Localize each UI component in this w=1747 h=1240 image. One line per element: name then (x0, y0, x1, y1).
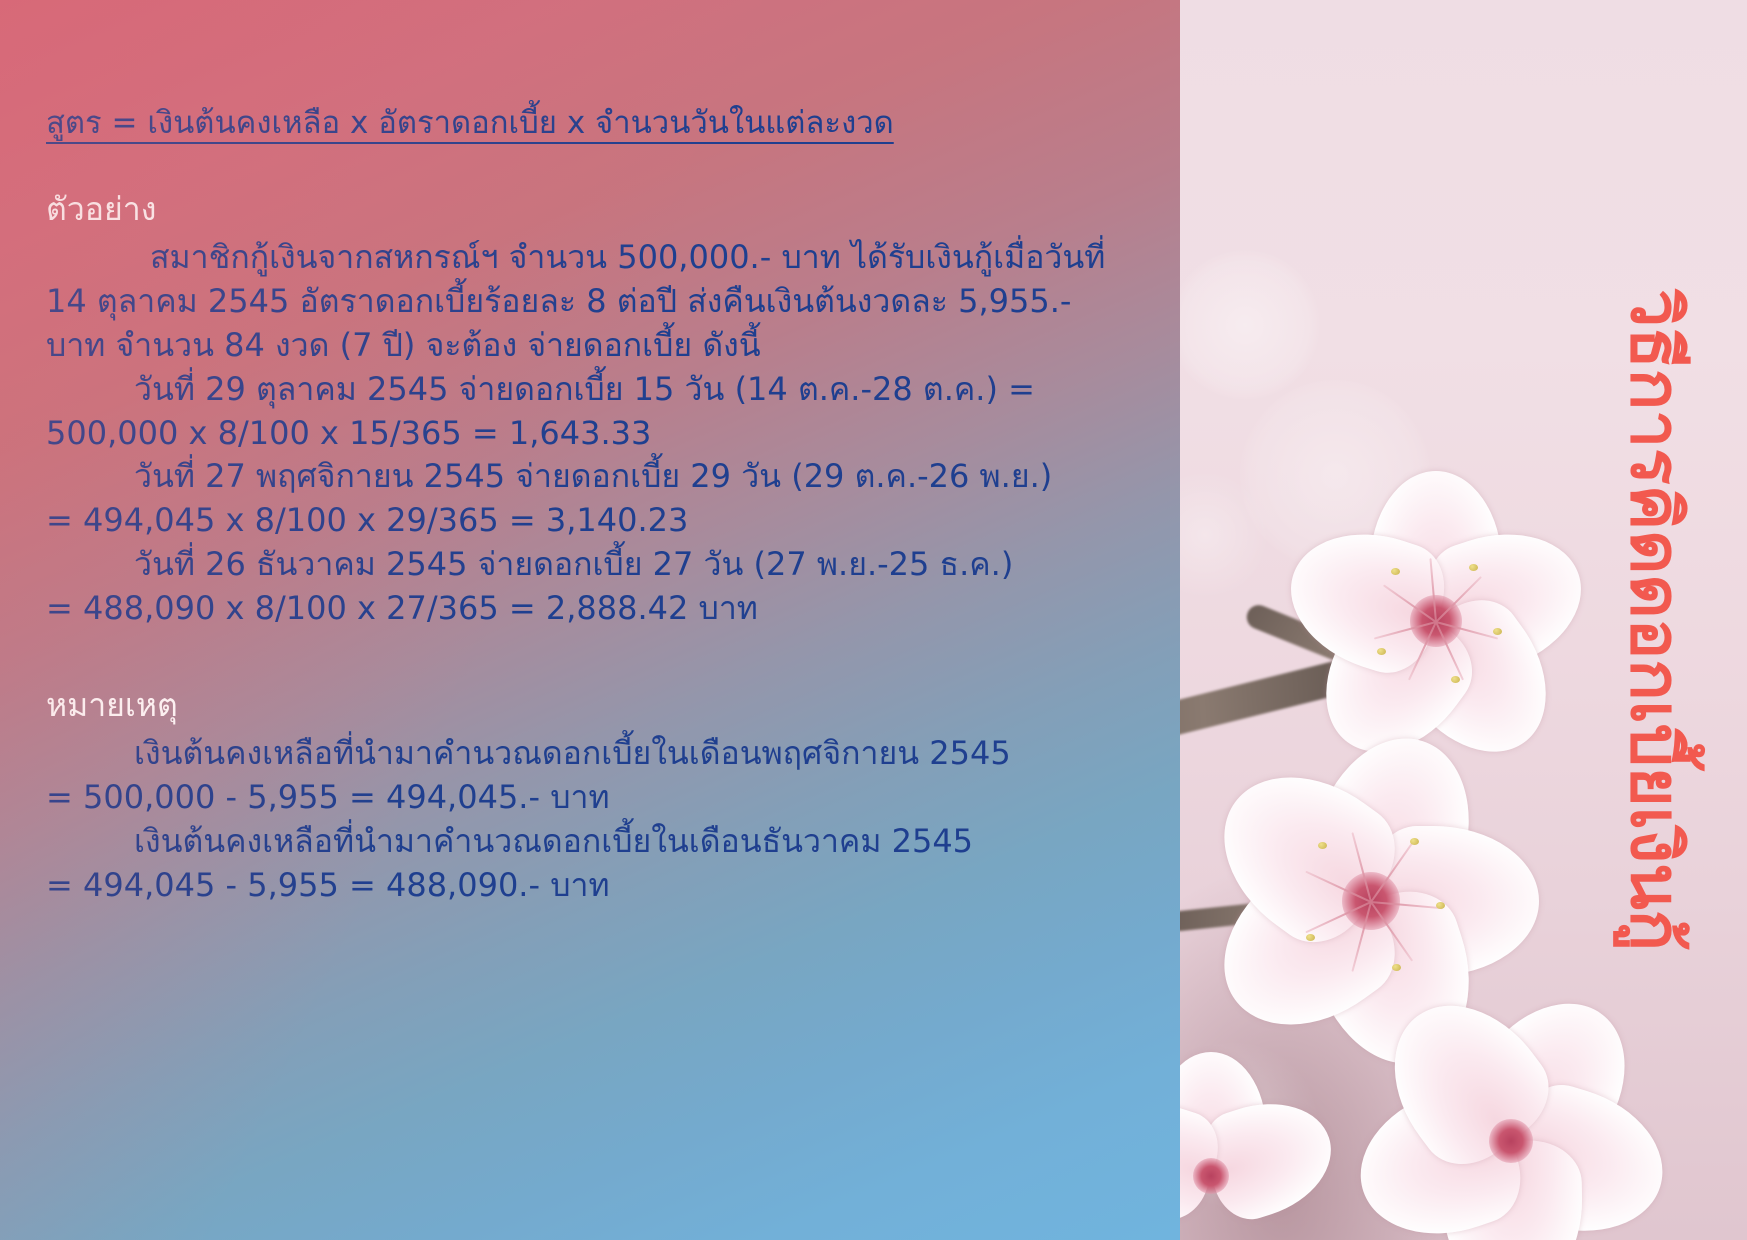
anther (1451, 676, 1460, 683)
example-line-4: วันที่ 29 ตุลาคม 2545 จ่ายดอกเบี้ย 15 วั… (46, 368, 1106, 412)
slide-canvas: สูตร = เงินต้นคงเหลือ x อัตราดอกเบี้ย x … (0, 0, 1747, 1240)
blossom-flower (1510, 1140, 1511, 1141)
blossom-flower (1435, 620, 1436, 621)
example-line-8: วันที่ 26 ธันวาคม 2545 จ่ายดอกเบี้ย 27 ว… (46, 543, 1106, 587)
anther (1306, 934, 1315, 941)
note-line-2: = 500,000 - 5,955 = 494,045.- บาท (46, 776, 1106, 820)
note-line-3: เงินต้นคงเหลือที่นำมาคำนวณดอกเบี้ยในเดือ… (46, 820, 1106, 864)
example-line-3: บาท จำนวน 84 งวด (7 ปี) จะต้อง จ่ายดอกเบ… (46, 324, 1106, 368)
decorative-photo-panel: วิธีการคิดดอกเบี้ยเงินกู้ (1180, 0, 1747, 1240)
anther (1493, 628, 1502, 635)
flower-center (1193, 1158, 1229, 1194)
note-line-1: เงินต้นคงเหลือที่นำมาคำนวณดอกเบี้ยในเดือ… (46, 732, 1106, 776)
anther (1391, 568, 1400, 575)
anther (1469, 564, 1478, 571)
anther (1392, 964, 1401, 971)
note-heading: หมายเหตุ (46, 685, 1106, 727)
vertical-title-text: วิธีการคิดดอกเบี้ยเงินกู้ (1620, 289, 1688, 951)
note-block: หมายเหตุ เงินต้นคงเหลือที่นำมาคำนวณดอกเบ… (46, 685, 1106, 908)
example-line-1: สมาชิกกู้เงินจากสหกรณ์ฯ จำนวน 500,000.- … (46, 236, 1106, 280)
slide-text-content: สูตร = เงินต้นคงเหลือ x อัตราดอกเบี้ย x … (46, 104, 1106, 908)
blossom-flower (1210, 1175, 1211, 1176)
anther (1436, 902, 1445, 909)
example-heading: ตัวอย่าง (46, 189, 1106, 231)
anther (1318, 842, 1327, 849)
formula-line: สูตร = เงินต้นคงเหลือ x อัตราดอกเบี้ย x … (46, 104, 1106, 143)
example-line-9: = 488,090 x 8/100 x 27/365 = 2,888.42 บา… (46, 587, 1106, 631)
example-line-7: = 494,045 x 8/100 x 29/365 = 3,140.23 (46, 499, 1106, 543)
example-line-5: 500,000 x 8/100 x 15/365 = 1,643.33 (46, 412, 1106, 456)
example-line-6: วันที่ 27 พฤศจิกายน 2545 จ่ายดอกเบี้ย 29… (46, 455, 1106, 499)
anther (1410, 838, 1419, 845)
blossom-flower (1370, 900, 1371, 901)
anther (1377, 648, 1386, 655)
example-line-2: 14 ตุลาคม 2545 อัตราดอกเบี้ยร้อยละ 8 ต่อ… (46, 280, 1106, 324)
note-line-4: = 494,045 - 5,955 = 488,090.- บาท (46, 864, 1106, 908)
vertical-title: วิธีการคิดดอกเบี้ยเงินกู้ (1579, 0, 1729, 1240)
content-panel: สูตร = เงินต้นคงเหลือ x อัตราดอกเบี้ย x … (0, 0, 1180, 1240)
flower-center (1489, 1119, 1533, 1163)
